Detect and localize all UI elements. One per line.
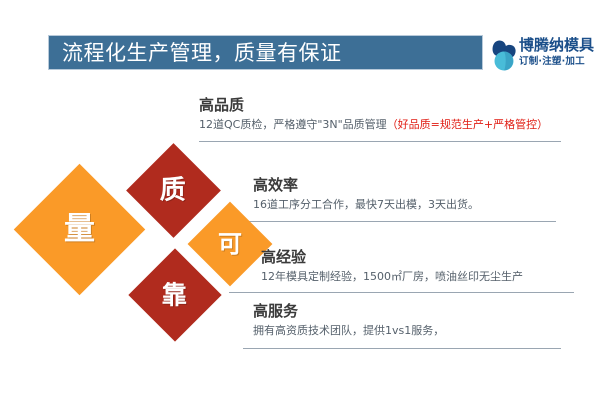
feature-desc-experience: 12年模具定制经验，1500㎡厂房，喷油丝印无尘生产: [261, 269, 523, 284]
divider-quality: [199, 141, 561, 142]
diamond-label-liang: 量: [64, 214, 95, 245]
logo-company-name: 博腾纳模具: [519, 36, 595, 55]
feature-desc-service: 拥有高资质技术团队，提供1vs1服务，: [253, 323, 444, 338]
feature-block-efficiency: 高效率 16道工序分工合作，最快7天出模，3天出货。: [253, 176, 479, 212]
company-logo: 博腾纳模具 订制·注塑·加工: [487, 36, 595, 74]
divider-efficiency: [243, 221, 556, 222]
feature-desc-accent-quality: （好品质=规范生产+严格管控）: [387, 118, 548, 131]
feature-desc-text-efficiency: 16道工序分工合作，最快7天出模，3天出货。: [253, 198, 479, 211]
diamond-label-zhi: 质: [160, 177, 186, 203]
feature-desc-text-service: 拥有高资质技术团队，提供1vs1服务，: [253, 324, 444, 337]
feature-heading-experience: 高经验: [261, 248, 523, 267]
diamond-label-kao: 靠: [162, 282, 187, 307]
feature-block-quality: 高品质 12道QC质检，严格遵守"3N"品质管理（好品质=规范生产+严格管控）: [199, 96, 548, 132]
feature-desc-efficiency: 16道工序分工合作，最快7天出模，3天出货。: [253, 197, 479, 212]
feature-desc-text-experience: 12年模具定制经验，1500㎡厂房，喷油丝印无尘生产: [261, 270, 523, 283]
feature-block-experience: 高经验 12年模具定制经验，1500㎡厂房，喷油丝印无尘生产: [261, 248, 523, 284]
logo-tagline: 订制·注塑·加工: [519, 55, 595, 69]
feature-block-service: 高服务 拥有高资质技术团队，提供1vs1服务，: [253, 302, 444, 338]
feature-heading-service: 高服务: [253, 302, 444, 321]
diamond-label-ke: 可: [218, 232, 242, 256]
diamond-badge-liang: 量: [14, 164, 146, 296]
page-title: 流程化生产管理，质量有保证: [62, 38, 472, 68]
slide-canvas: 流程化生产管理，质量有保证 博腾纳模具 订制·注塑·加工 量 质 可 靠: [0, 0, 600, 400]
divider-experience: [229, 292, 574, 293]
divider-service: [243, 348, 561, 349]
feature-heading-efficiency: 高效率: [253, 176, 479, 195]
feature-desc-text-quality: 12道QC质检，严格遵守"3N"品质管理: [199, 118, 387, 131]
logo-wordmark: 博腾纳模具 订制·注塑·加工: [519, 36, 595, 74]
butterfly-logo-icon: [487, 38, 519, 72]
feature-heading-quality: 高品质: [199, 96, 548, 115]
feature-desc-quality: 12道QC质检，严格遵守"3N"品质管理（好品质=规范生产+严格管控）: [199, 117, 548, 132]
